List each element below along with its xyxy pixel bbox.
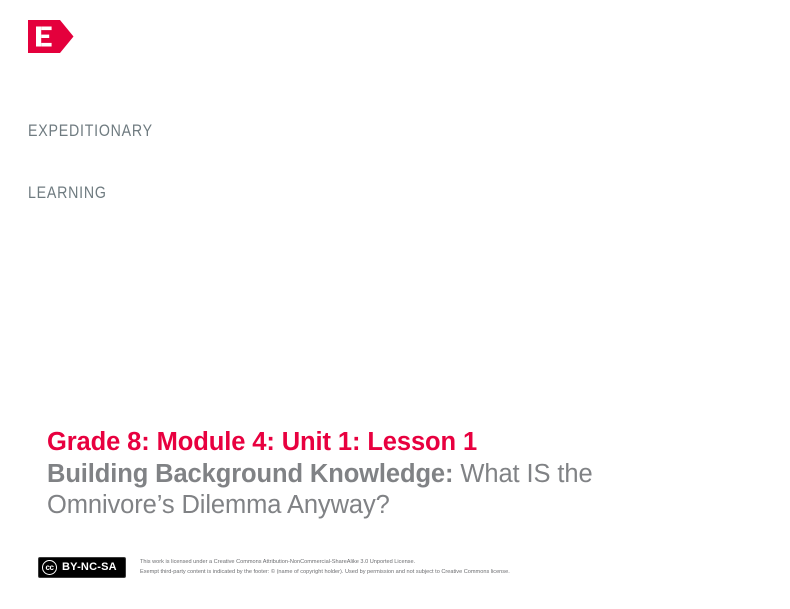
creative-commons-icon: cc xyxy=(42,560,57,575)
logo-wordmark-line-1: EXPEDITIONARY xyxy=(28,121,200,142)
slide-title-block: Grade 8: Module 4: Unit 1: Lesson 1 Buil… xyxy=(47,427,747,521)
license-notice: This work is licensed under a Creative C… xyxy=(140,557,510,577)
license-badge-label: BY-NC-SA xyxy=(62,562,117,573)
lesson-subtitle: Building Background Knowledge: What IS t… xyxy=(47,459,707,521)
lesson-subtitle-strong: Building Background Knowledge: xyxy=(47,460,453,488)
expeditionary-learning-banner-logo-icon xyxy=(28,20,74,53)
lesson-identifier-heading: Grade 8: Module 4: Unit 1: Lesson 1 xyxy=(47,427,747,457)
logo-wordmark: EXPEDITIONARY LEARNING xyxy=(28,80,200,244)
expeditionary-learning-logo: EXPEDITIONARY LEARNING xyxy=(28,20,228,244)
slide-footer: cc BY-NC-SA This work is licensed under … xyxy=(38,557,510,578)
logo-wordmark-line-2: LEARNING xyxy=(28,183,200,204)
license-notice-line-2: Exempt third-party content is indicated … xyxy=(140,568,510,578)
license-notice-line-1: This work is licensed under a Creative C… xyxy=(140,558,510,568)
creative-commons-license-badge[interactable]: cc BY-NC-SA xyxy=(38,557,126,578)
presentation-slide: EXPEDITIONARY LEARNING Grade 8: Module 4… xyxy=(0,0,790,609)
